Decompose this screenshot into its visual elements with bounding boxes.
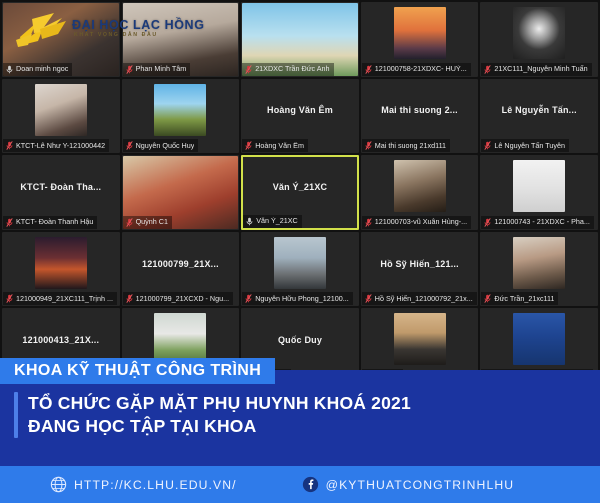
video-tile[interactable]: 121000703-vũ Xuân Hùng-... (361, 155, 479, 230)
zoom-meeting-screenshot: Doan minh ngoc Phan Minh Tâm 21XDXC Trần… (0, 0, 600, 503)
mic-muted-icon (484, 294, 491, 303)
participant-name-text: KTCT-Lê Như Y-121000442 (16, 142, 105, 150)
participant-name-label: 121000743 - 21XDXC - Pha... (481, 216, 594, 229)
participant-name-label: Lê Nguyễn Tấn Tuyên (481, 139, 569, 152)
participant-name-text: KTCT- Đoàn Thanh Hậu (16, 218, 93, 226)
mic-muted-icon (6, 141, 13, 150)
video-tile[interactable]: Quỳnh C1 (122, 155, 240, 230)
mic-muted-icon (6, 218, 13, 227)
participant-video-frame (35, 84, 87, 136)
participant-name-text: Văn Ý_21XC (256, 217, 298, 225)
banner-footer: HTTP://KC.LHU.EDU.VN/ @KYTHUATCONGTRINHL… (0, 466, 600, 503)
video-gallery-grid: Doan minh ngoc Phan Minh Tâm 21XDXC Trần… (0, 0, 600, 385)
mic-muted-icon (6, 294, 13, 303)
participant-name-text: 121000703-vũ Xuân Hùng-... (375, 218, 467, 226)
video-tile[interactable]: Doan minh ngoc (2, 2, 120, 77)
website-link[interactable]: HTTP://KC.LHU.EDU.VN/ (50, 476, 237, 493)
video-tile[interactable]: KTCT-Lê Như Y-121000442 (2, 79, 120, 154)
mic-muted-icon (484, 218, 491, 227)
participant-video-frame (35, 237, 87, 289)
mic-muted-icon (126, 294, 133, 303)
mic-muted-icon (365, 294, 372, 303)
headline-accent-bar (14, 392, 18, 438)
participant-video-frame (513, 160, 565, 212)
participant-name-text: Nguyễn Quốc Huy (136, 142, 195, 150)
participant-name-label: 21XC111_Nguyễn Minh Tuấn (481, 63, 591, 76)
mic-icon (246, 217, 253, 226)
participant-name-label: 121000758-21XDXC- HUỲ... (362, 63, 471, 76)
participant-video-frame (513, 7, 565, 59)
video-tile[interactable]: Hồ Sỹ Hiến_121... Hồ Sỹ Hiến_121000792_2… (361, 232, 479, 307)
participant-name-label: Đức Trần_21xc111 (481, 292, 558, 305)
headline-line-2: ĐANG HỌC TẬP TẠI KHOA (28, 415, 411, 438)
participant-name-label: Hồ Sỹ Hiến_121000792_21x... (362, 292, 477, 305)
facebook-icon (302, 476, 319, 493)
headline-line-1: TỔ CHỨC GẶP MẶT PHỤ HUYNH KHOÁ 2021 (28, 392, 411, 415)
participant-name-text: 121000758-21XDXC- HUỲ... (375, 65, 467, 73)
participant-name-text: 21XC111_Nguyễn Minh Tuấn (494, 65, 587, 73)
mic-icon (6, 65, 13, 74)
participant-name-label: Nguyễn Hữu Phong_12100... (242, 292, 353, 305)
participant-name-text: Đức Trần_21xc111 (494, 295, 554, 303)
video-tile[interactable]: 121000949_21XC111_Trịnh ... (2, 232, 120, 307)
participant-name-label: 21XDXC Trần Đức Anh (242, 63, 333, 76)
video-tile[interactable]: Lê Nguyễn Tấn... Lê Nguyễn Tấn Tuyên (480, 79, 598, 154)
video-tile[interactable]: Đức Trần_21xc111 (480, 232, 598, 307)
participant-name-label: Mai thi suong 21xd111 (362, 139, 450, 152)
mic-muted-icon (484, 141, 491, 150)
participant-name-text: Quỳnh C1 (136, 218, 168, 226)
participant-video-frame (394, 160, 446, 212)
video-tile[interactable]: Phan Minh Tâm (122, 2, 240, 77)
participant-video-frame (394, 7, 446, 59)
video-tile[interactable]: 121000758-21XDXC- HUỲ... (361, 2, 479, 77)
banner-kicker: KHOA KỸ THUẬT CÔNG TRÌNH (0, 358, 275, 384)
mic-muted-icon (365, 218, 372, 227)
participant-name-label: Doan minh ngoc (3, 63, 72, 76)
facebook-link[interactable]: @KYTHUATCONGTRINHLHU (302, 476, 515, 493)
video-tile[interactable]: Hoàng Văn Êm Hoàng Văn Êm (241, 79, 359, 154)
participant-name-text: Nguyễn Hữu Phong_12100... (255, 295, 349, 303)
facebook-text: @KYTHUATCONGTRINHLHU (326, 478, 515, 492)
participant-name-text: Mai thi suong 21xd111 (375, 142, 446, 150)
participant-name-label: KTCT-Lê Như Y-121000442 (3, 139, 109, 152)
mic-muted-icon (126, 141, 133, 150)
mic-muted-icon (126, 218, 133, 227)
video-tile[interactable]: KTCT- Đoàn Tha... KTCT- Đoàn Thanh Hậu (2, 155, 120, 230)
event-banner: KHOA KỸ THUẬT CÔNG TRÌNH TỔ CHỨC GẶP MẶT… (0, 358, 600, 503)
participant-name-text: 21XDXC Trần Đức Anh (255, 65, 329, 73)
participant-name-text: Phan Minh Tâm (136, 65, 187, 73)
mic-muted-icon (365, 141, 372, 150)
participant-name-label: KTCT- Đoàn Thanh Hậu (3, 216, 97, 229)
banner-headline-block: TỔ CHỨC GẶP MẶT PHỤ HUYNH KHOÁ 2021 ĐANG… (14, 392, 411, 438)
video-tile[interactable]: 21XC111_Nguyễn Minh Tuấn (480, 2, 598, 77)
video-tile[interactable]: 121000799_21X... 121000799_21XCXD - Ngu.… (122, 232, 240, 307)
participant-name-text: Lê Nguyễn Tấn Tuyên (494, 142, 565, 150)
video-tile[interactable]: Văn Ý_21XC Văn Ý_21XC (241, 155, 359, 230)
participant-name-text: 121000799_21XCXD - Ngu... (136, 295, 230, 303)
website-text: HTTP://KC.LHU.EDU.VN/ (74, 478, 237, 492)
participant-video-frame (274, 237, 326, 289)
participant-name-label: Quỳnh C1 (123, 216, 172, 229)
participant-name-label: Phan Minh Tâm (123, 63, 191, 76)
participant-name-label: Nguyễn Quốc Huy (123, 139, 199, 152)
participant-name-label: 121000799_21XCXD - Ngu... (123, 292, 234, 305)
participant-name-label: 121000703-vũ Xuân Hùng-... (362, 216, 471, 229)
video-tile[interactable]: 21XDXC Trần Đức Anh (241, 2, 359, 77)
mic-muted-icon (126, 65, 133, 74)
mic-muted-icon (245, 141, 252, 150)
participant-name-label: Hoàng Văn Êm (242, 139, 308, 152)
participant-video-frame (154, 84, 206, 136)
video-tile[interactable]: Nguyễn Quốc Huy (122, 79, 240, 154)
mic-muted-icon (365, 65, 372, 74)
video-tile[interactable]: Nguyễn Hữu Phong_12100... (241, 232, 359, 307)
participant-name-text: Hoàng Văn Êm (255, 142, 304, 150)
video-tile[interactable]: 121000743 - 21XDXC - Pha... (480, 155, 598, 230)
mic-muted-icon (484, 65, 491, 74)
participant-video-frame (513, 237, 565, 289)
participant-name-text: Doan minh ngoc (16, 65, 68, 73)
video-tile[interactable]: Mai thi suong 2... Mai thi suong 21xd111 (361, 79, 479, 154)
participant-name-label: 121000949_21XC111_Trịnh ... (3, 292, 117, 305)
mic-muted-icon (245, 294, 252, 303)
mic-muted-icon (245, 65, 252, 74)
participant-name-text: 121000949_21XC111_Trịnh ... (16, 295, 113, 303)
participant-name-text: Hồ Sỹ Hiến_121000792_21x... (375, 295, 473, 303)
participant-name-label: Văn Ý_21XC (243, 215, 302, 228)
globe-icon (50, 476, 67, 493)
participant-name-text: 121000743 - 21XDXC - Pha... (494, 218, 590, 226)
